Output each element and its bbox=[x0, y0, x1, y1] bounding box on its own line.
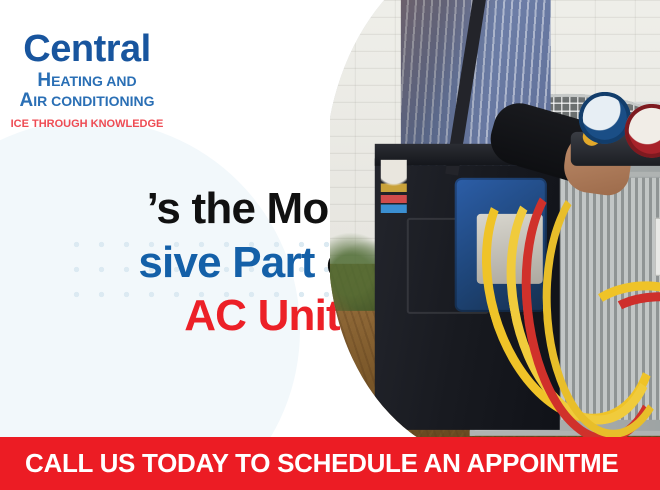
headline-line-2: sive Part of bbox=[0, 236, 366, 290]
logo-line2-cap: H bbox=[37, 70, 51, 91]
cta-banner-text: CALL US TODAY TO SCHEDULE AN APPOINTME bbox=[25, 437, 618, 490]
logo-line-heating: HEATING AND bbox=[0, 71, 212, 91]
hero-photo-scene bbox=[330, 0, 660, 437]
hero-photo-curved-mask bbox=[330, 0, 660, 437]
headline-ac-unit-text: AC Unit bbox=[184, 291, 340, 340]
logo-wordmark: Central bbox=[0, 30, 212, 68]
hero-photo bbox=[330, 0, 660, 437]
headline-part-text: Part bbox=[232, 238, 314, 287]
headline: ’s the Most sive Part of AC Unit? bbox=[0, 182, 366, 343]
company-logo[interactable]: Central HEATING AND AIR CONDITIONING ICE… bbox=[0, 30, 212, 130]
logo-tagline-text: ICE THROUGH KNOWLEDGE bbox=[11, 118, 164, 130]
low-pressure-gauge bbox=[579, 92, 631, 144]
logo-line3-rest: IR C bbox=[33, 93, 61, 109]
logo-tagline: ICE THROUGH KNOWLEDGE bbox=[0, 115, 212, 130]
logo-line3-cap: A bbox=[19, 90, 33, 111]
headline-line-1: ’s the Most bbox=[0, 182, 366, 236]
logo-line-air-conditioning: AIR CONDITIONING bbox=[0, 91, 212, 111]
logo-line3-rest2: ONDITIONING bbox=[61, 93, 154, 109]
marketing-banner: Central HEATING AND AIR CONDITIONING ICE… bbox=[0, 0, 660, 490]
cta-banner[interactable]: CALL US TODAY TO SCHEDULE AN APPOINTME bbox=[0, 437, 660, 490]
logo-line2-rest: EATING AND bbox=[51, 73, 137, 89]
headline-expensive-text: sive bbox=[138, 238, 232, 287]
carabiner-keys bbox=[381, 160, 407, 230]
headline-line-3: AC Unit? bbox=[0, 289, 366, 343]
